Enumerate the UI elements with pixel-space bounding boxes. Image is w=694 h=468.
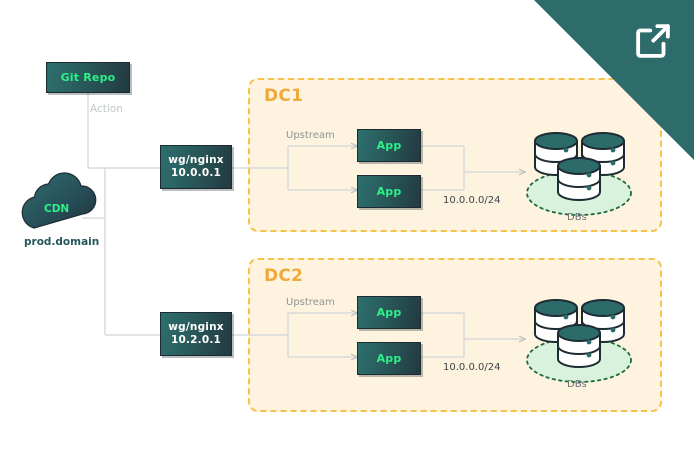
- db-cluster-dc2-label: DBs: [567, 379, 587, 390]
- db-cluster-dc1-label: DBs: [567, 212, 587, 223]
- db-cylinder-dc2-3: [558, 325, 600, 367]
- diagram-canvas: DC1 DC2: [0, 0, 694, 468]
- db-clusters-layer: [0, 0, 694, 468]
- db-cylinder-dc1-3: [558, 158, 600, 200]
- db-cluster-dc1: [527, 133, 631, 215]
- db-cluster-dc2: [527, 300, 631, 382]
